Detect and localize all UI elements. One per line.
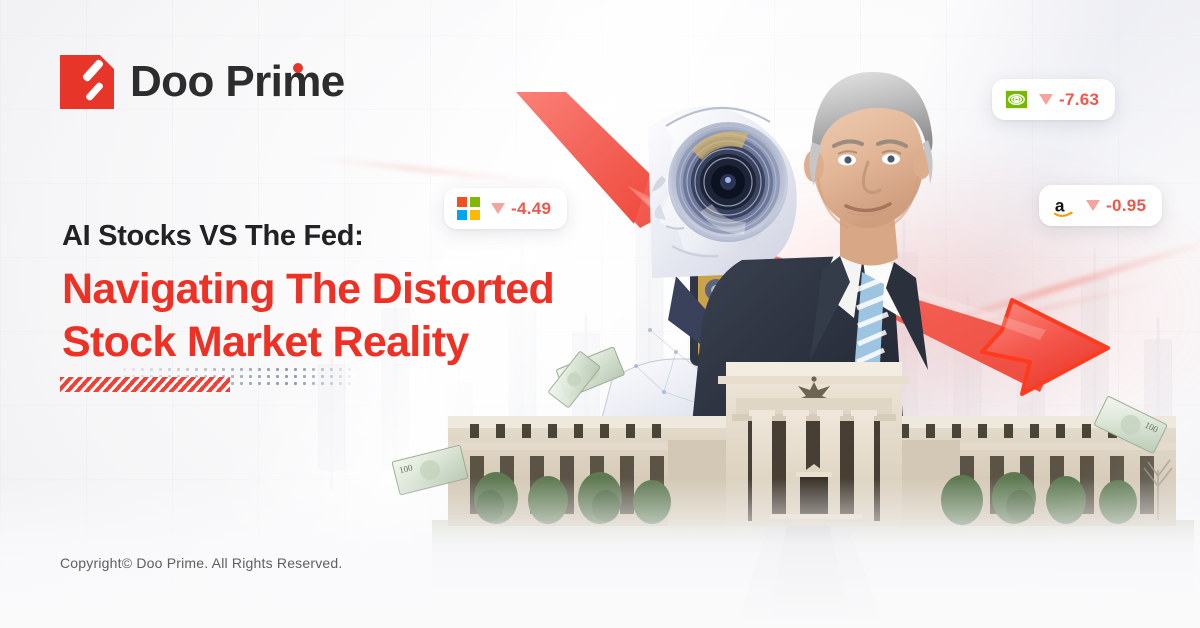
msft-change: -4.49 bbox=[491, 199, 551, 219]
msft-change-value: -4.49 bbox=[511, 199, 551, 219]
nvidia-eye-icon bbox=[1005, 88, 1028, 111]
svg-text:a: a bbox=[1055, 195, 1065, 215]
background-light-streak-3 bbox=[300, 154, 559, 186]
foreground-fade bbox=[0, 478, 1200, 628]
ticker-badge-msft[interactable]: -4.49 bbox=[444, 188, 567, 229]
logo-slash-upper bbox=[82, 59, 105, 83]
logo-i-dot bbox=[293, 63, 303, 73]
amazon-a-smile-icon: a bbox=[1052, 194, 1075, 217]
brand-name: Doo Prime bbox=[130, 57, 345, 107]
nvda-change: -7.63 bbox=[1039, 90, 1099, 110]
marketing-banner: 100 100 100 Doo Prime bbox=[0, 0, 1200, 628]
eagle-emblem-icon bbox=[796, 376, 832, 410]
flying-dollar-bills: 100 100 100 bbox=[392, 347, 1167, 495]
amzn-change: -0.95 bbox=[1086, 196, 1146, 216]
doo-prime-mark-icon bbox=[60, 55, 114, 109]
brand-logo[interactable]: Doo Prime bbox=[60, 55, 345, 109]
fed-chair-portrait bbox=[688, 72, 933, 464]
background-light-streak-2 bbox=[873, 278, 1166, 350]
nvda-change-value: -7.63 bbox=[1059, 90, 1099, 110]
svg-text:100: 100 bbox=[398, 462, 414, 475]
triangle-down-icon bbox=[1039, 94, 1053, 105]
headline-title-line1: Navigating The Distorted bbox=[62, 263, 682, 315]
triangle-down-icon bbox=[1086, 200, 1100, 211]
trees bbox=[474, 472, 1137, 525]
ticker-badge-nvda[interactable]: -7.63 bbox=[992, 79, 1115, 120]
svg-text:100: 100 bbox=[563, 368, 577, 381]
headline-title-line2: Stock Market Reality bbox=[62, 316, 682, 368]
background-light-streak-1 bbox=[906, 234, 1200, 337]
decorative-divider bbox=[60, 366, 360, 392]
headline-block: AI Stocks VS The Fed: Navigating The Dis… bbox=[62, 218, 682, 368]
headline-kicker: AI Stocks VS The Fed: bbox=[62, 218, 682, 254]
ticker-badge-amzn[interactable]: a -0.95 bbox=[1039, 185, 1162, 226]
copyright-text: Copyright© Doo Prime. All Rights Reserve… bbox=[60, 555, 343, 571]
svg-text:100: 100 bbox=[1143, 420, 1160, 435]
logo-slash-lower bbox=[85, 81, 104, 101]
triangle-down-icon bbox=[491, 203, 505, 214]
federal-reserve-building bbox=[432, 362, 1194, 628]
microsoft-squares-icon bbox=[457, 197, 480, 220]
divider-hatch-bar bbox=[60, 377, 230, 392]
amzn-change-value: -0.95 bbox=[1106, 196, 1146, 216]
